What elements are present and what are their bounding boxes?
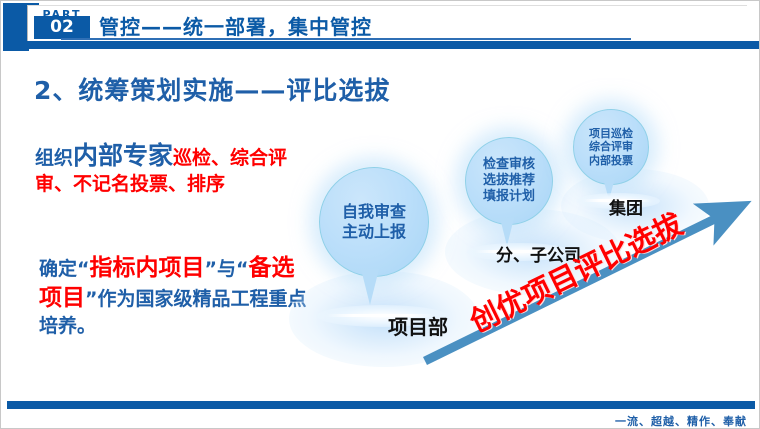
header-underline [61, 38, 631, 40]
bubble-node-3-line-3: 内部投票 [589, 154, 633, 167]
bubble-node-2-line-3: 填报计划 [483, 189, 535, 205]
node-label-group: 集团 [609, 194, 643, 219]
header-blue-bar [15, 41, 759, 49]
bubble-node-1-tail [361, 269, 379, 305]
paragraph1-seg2: 内部专家 [73, 141, 173, 170]
paragraph1-seg1: 组织 [35, 147, 73, 169]
paragraph2-seg3: ”与“ [205, 258, 249, 280]
bubble-node-3-line-1: 项目巡检 [589, 127, 633, 140]
bubble-node-3[interactable]: 项目巡检 综合评审 内部投票 [573, 109, 649, 185]
bubble-node-1-line-1: 自我审查 [342, 202, 406, 222]
footer-blue-bar [7, 401, 755, 409]
footer-slogan: 一流、超越、精作、奉献 [615, 413, 747, 429]
paragraph2-seg2: 指标内项目 [90, 255, 205, 281]
bubble-node-1-line-2: 主动上报 [342, 222, 406, 242]
bubble-node-2-line-1: 检查审核 [483, 157, 535, 173]
bubble-node-2[interactable]: 检查审核 选拔推荐 填报计划 [465, 137, 553, 225]
header-title: 管控——统一部署，集中管控 [99, 11, 372, 40]
part-badge: PART 02 [34, 9, 90, 39]
bubble-node-3-line-2: 综合评审 [589, 140, 633, 153]
paragraph2-seg1: 确定“ [39, 258, 90, 280]
page-title: 2、统筹策划实施——评比选拔 [34, 71, 390, 107]
bubble-node-1[interactable]: 自我审查 主动上报 [319, 167, 429, 277]
bubble-node-1-text: 自我审查 主动上报 [342, 202, 406, 241]
slide-canvas: PART 02 管控——统一部署，集中管控 2、统筹策划实施——评比选拔 组织内… [0, 0, 760, 429]
bubble-node-2-text: 检查审核 选拔推荐 填报计划 [483, 157, 535, 205]
bubble-node-3-text: 项目巡检 综合评审 内部投票 [589, 127, 633, 167]
bubble-node-2-line-2: 选拔推荐 [483, 173, 535, 189]
part-number-label: 02 [34, 16, 90, 39]
paragraph-confirm: 确定“指标内项目”与“备选项目”作为国家级精品工程重点培养。 [39, 253, 311, 339]
paragraph-organize: 组织内部专家巡检、综合评审、不记名投票、排序 [35, 139, 317, 197]
node-label-project-dept: 项目部 [388, 311, 448, 340]
